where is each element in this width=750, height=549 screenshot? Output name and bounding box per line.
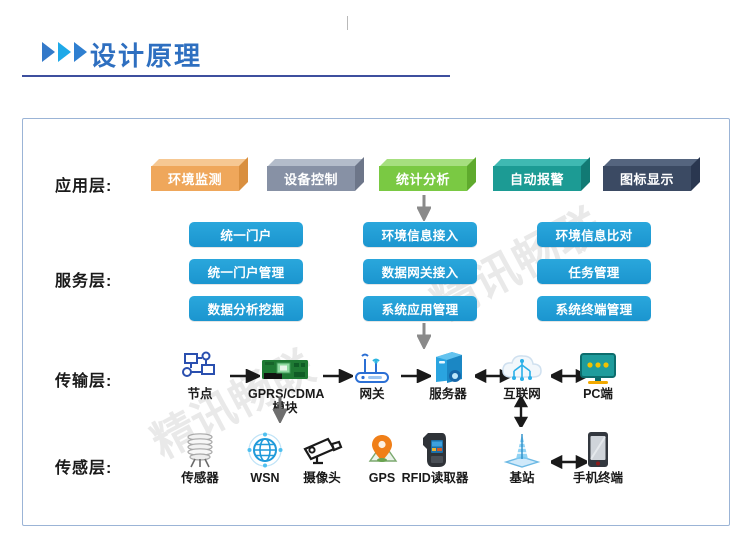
node-caption: 节点 <box>163 387 237 401</box>
app-box-label: 环境监测 <box>151 166 239 191</box>
service-pill-task-mgmt[interactable]: 任务管理 <box>537 259 651 284</box>
node-caption: 传感器 <box>163 471 237 485</box>
arrow-updown-icon <box>514 397 528 427</box>
service-pill-system-app-mgmt[interactable]: 系统应用管理 <box>363 296 477 321</box>
cloud-icon <box>485 347 559 385</box>
arrow-down-icon <box>273 397 287 423</box>
app-box-label: 统计分析 <box>379 166 467 191</box>
transmission-node-gateway[interactable]: 网关 <box>335 347 409 401</box>
page-title: 设计原理 <box>90 36 202 73</box>
app-box-device-control[interactable]: 设备控制 <box>267 159 355 185</box>
smartphone-icon <box>561 431 635 469</box>
service-pill-env-info-access[interactable]: 环境信息接入 <box>363 222 477 247</box>
node-caption: 网关 <box>335 387 409 401</box>
service-pill-data-gateway-access[interactable]: 数据网关接入 <box>363 259 477 284</box>
node-caption: 服务器 <box>411 387 485 401</box>
server-icon <box>411 347 485 385</box>
layer-label-sensing: 传感层: <box>55 454 112 478</box>
node-caption: 基站 <box>485 471 559 485</box>
app-box-statistical-analysis[interactable]: 统计分析 <box>379 159 467 185</box>
sensing-node-sensor[interactable]: 传感器 <box>163 431 237 485</box>
top-tick-mark <box>347 16 348 30</box>
node-caption: PC端 <box>561 387 635 401</box>
page-header: 设计原理 <box>0 0 750 100</box>
layer-label-service: 服务层: <box>55 267 112 291</box>
rfid-reader-icon <box>398 431 472 469</box>
architecture-diagram: 精讯畅联 精讯畅联 应用层: 服务层: 传输层: 传感层: 环境监测 设备控制 … <box>22 118 730 526</box>
sensing-node-rfid-reader[interactable]: RFID读取器 <box>398 431 472 485</box>
transmission-node-node[interactable]: 节点 <box>163 347 237 401</box>
title-underline <box>22 75 450 77</box>
app-box-auto-alarm[interactable]: 自动报警 <box>493 159 581 185</box>
transmission-node-internet[interactable]: 互联网 <box>485 347 559 401</box>
triangle-right-icon <box>74 42 87 62</box>
arrow-down-icon <box>417 195 431 221</box>
service-pill-system-terminal-mgmt[interactable]: 系统终端管理 <box>537 296 651 321</box>
app-box-label: 自动报警 <box>493 166 581 191</box>
base-station-icon <box>485 431 559 469</box>
app-box-label: 图标显示 <box>603 166 691 191</box>
service-pill-data-analysis-mining[interactable]: 数据分析挖掘 <box>189 296 303 321</box>
triangle-right-icon <box>58 42 71 62</box>
layer-label-application: 应用层: <box>55 172 112 196</box>
circuit-board-icon <box>248 347 322 385</box>
arrow-down-icon <box>417 323 431 349</box>
service-pill-unified-portal-mgmt[interactable]: 统一门户管理 <box>189 259 303 284</box>
node-caption: 手机终端 <box>561 471 635 485</box>
sensing-node-base-station[interactable]: 基站 <box>485 431 559 485</box>
monitor-icon <box>561 347 635 385</box>
service-pill-env-info-compare[interactable]: 环境信息比对 <box>537 222 651 247</box>
router-icon <box>335 347 409 385</box>
triangle-bullets <box>42 42 87 62</box>
app-box-environment-monitoring[interactable]: 环境监测 <box>151 159 239 185</box>
transmission-node-pc[interactable]: PC端 <box>561 347 635 401</box>
weather-sensor-icon <box>163 431 237 469</box>
app-box-label: 设备控制 <box>267 166 355 191</box>
app-box-icon-display[interactable]: 图标显示 <box>603 159 691 185</box>
triangle-right-icon <box>42 42 55 62</box>
layer-label-transmission: 传输层: <box>55 367 112 391</box>
node-network-icon <box>163 347 237 385</box>
sensing-node-mobile-terminal[interactable]: 手机终端 <box>561 431 635 485</box>
node-caption: RFID读取器 <box>398 471 472 485</box>
transmission-node-server[interactable]: 服务器 <box>411 347 485 401</box>
service-pill-unified-portal[interactable]: 统一门户 <box>189 222 303 247</box>
